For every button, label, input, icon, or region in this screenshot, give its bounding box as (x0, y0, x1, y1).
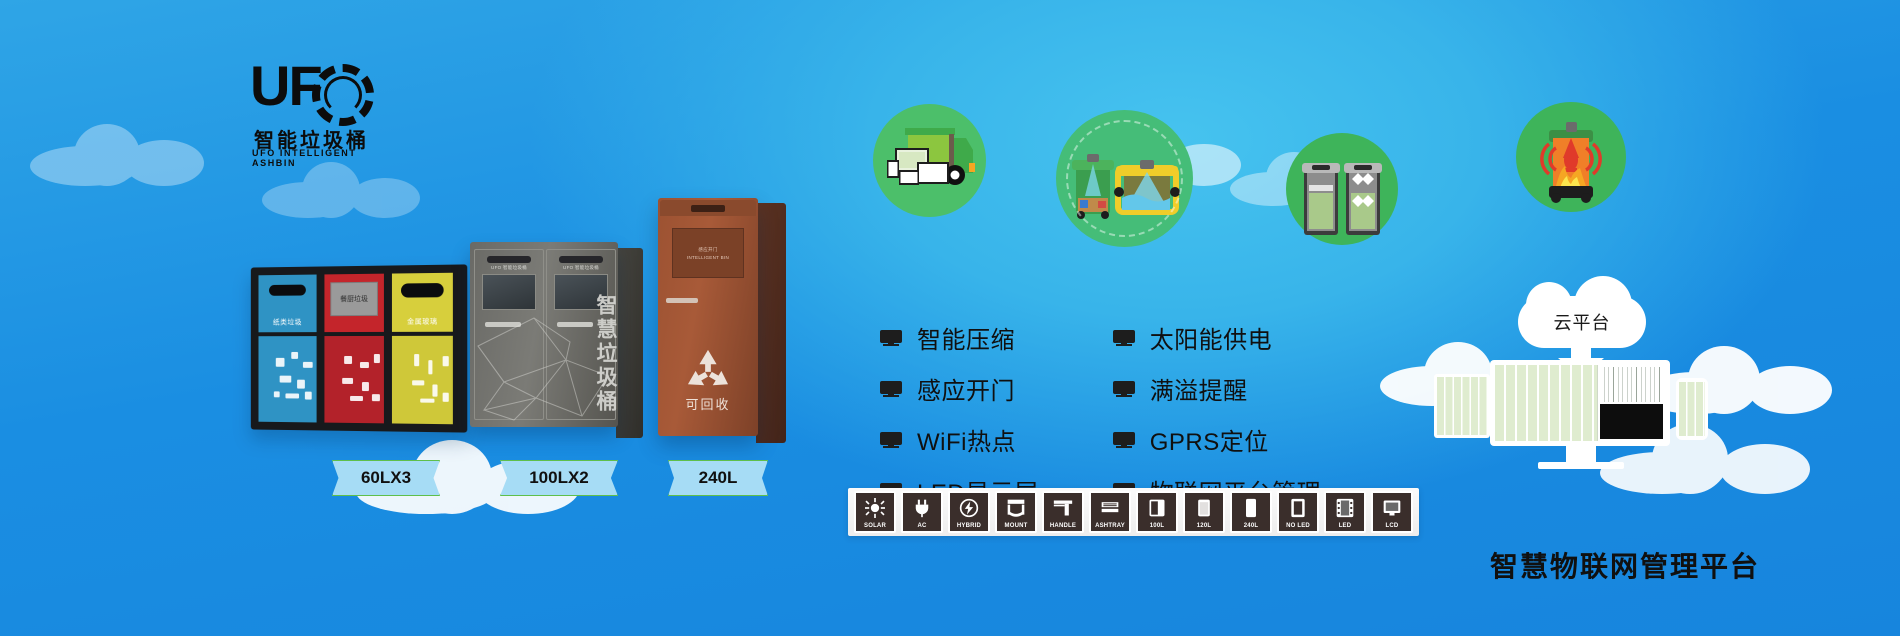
duo-bin-brand-text: UFO 智能垃圾桶 (475, 265, 543, 271)
feature-label: 太阳能供电 (1150, 320, 1273, 355)
bin-100l-icon (1138, 496, 1176, 519)
duo-bin-top-vent (559, 256, 603, 263)
lightning-icon (950, 496, 988, 519)
feature-item: 智能压缩 (880, 320, 1039, 355)
feature-label: WiFi热点 (917, 422, 1016, 457)
badge-label: LED (1339, 523, 1352, 529)
triple-bin-frame: 纸类垃圾 餐厨垃圾 (251, 264, 467, 432)
screen-line-2: INTELLIGENT BIN (687, 255, 729, 260)
monitor-icon (880, 330, 902, 346)
duo-bin-brand-text: UFO 智能垃圾桶 (547, 265, 615, 271)
feature-label: GPRS定位 (1150, 422, 1269, 457)
badge-no-led[interactable]: NO LED (1277, 491, 1319, 533)
bin-brown-240l: 感应开门 INTELLIGENT BIN 可回收 (658, 198, 788, 446)
waste-illustration (336, 348, 372, 411)
dashed-orbit (1066, 120, 1183, 237)
feature-label: 满溢提醒 (1150, 371, 1248, 406)
no-led-icon (1279, 496, 1317, 519)
cloud-platform-bubble: 云平台 (1518, 296, 1646, 348)
bin-display: 餐厨垃圾 (330, 282, 378, 316)
badge-label: HYBRID (957, 523, 981, 529)
cell-bottom-panel (392, 336, 453, 424)
truck-devices-circle (873, 104, 986, 217)
ribbon-240l: 240L (668, 460, 768, 496)
fire-alarm-icon (1516, 102, 1626, 212)
phone-screen (1679, 382, 1705, 436)
feature-item: WiFi热点 (880, 422, 1039, 457)
badge-solar[interactable]: SOLAR (854, 491, 896, 533)
map-view (1495, 365, 1597, 441)
feature-item: GPRS定位 (1113, 422, 1322, 457)
badge-120l[interactable]: 120L (1183, 491, 1225, 533)
lcd-icon (1373, 496, 1411, 519)
led-icon (1326, 496, 1364, 519)
feature-column-right: 太阳能供电 满溢提醒 GPRS定位 物联网平台管理 (1113, 320, 1322, 508)
tablet-device (1434, 374, 1490, 438)
bin-120l-icon (1185, 496, 1223, 519)
brand-logo: UF 智能垃圾桶 UFO INTELLIGENT ASHBIN (250, 58, 380, 163)
ribbon-label: 100LX2 (529, 468, 589, 488)
iot-platform-illustration: 云平台 (1440, 296, 1740, 526)
triple-bin-cell: 餐厨垃圾 (324, 274, 383, 424)
cell-top-panel: 金属玻璃 (392, 273, 453, 332)
recycle-icon (685, 348, 731, 390)
phone-device (1676, 378, 1708, 440)
feature-item: 满溢提醒 (1113, 371, 1322, 406)
badge-handle[interactable]: HANDLE (1042, 491, 1084, 533)
badge-label: ASHTRAY (1095, 523, 1125, 529)
analytics-panel (1597, 365, 1665, 441)
line-chart-widget (1600, 367, 1663, 402)
monitor-base (1538, 462, 1624, 469)
ribbon-label: 60LX3 (361, 468, 411, 488)
fire-alarm-circle (1516, 102, 1626, 212)
ribbon-label: 240L (699, 468, 738, 488)
badge-ac[interactable]: AC (901, 491, 943, 533)
bin-compaction-icon (1286, 133, 1398, 245)
product-banner: UF 智能垃圾桶 UFO INTELLIGENT ASHBIN 纸类垃圾 (0, 0, 1900, 636)
brown-bin-cap (660, 200, 756, 216)
feature-label: 感应开门 (917, 371, 1015, 406)
brown-bin-body: 感应开门 INTELLIGENT BIN 可回收 (658, 198, 758, 436)
duo-bin-body: UFO 智能垃圾桶 UFO 智能垃圾桶 智慧垃圾桶 (470, 242, 618, 427)
badge-label: AC (917, 523, 926, 529)
logo-english-name: UFO INTELLIGENT ASHBIN (252, 148, 380, 168)
feature-item: 太阳能供电 (1113, 320, 1322, 355)
feature-list: 智能压缩 感应开门 WiFi热点 LED显示屏 太阳能供电 满溢提醒 (880, 320, 1321, 508)
bin-triple-60lx3: 纸类垃圾 餐厨垃圾 (248, 266, 466, 431)
screen-line-1: 感应开门 (698, 247, 717, 253)
logo-wordmark: UF (250, 58, 321, 114)
duo-bin-side (616, 248, 643, 438)
bin-category-label: 纸类垃圾 (258, 317, 316, 327)
badge-label: NO LED (1286, 523, 1310, 529)
monitor-icon (1113, 381, 1135, 397)
badge-led[interactable]: LED (1324, 491, 1366, 533)
bin-opening (401, 283, 444, 298)
monitor-icon (1113, 432, 1135, 448)
cloud-decoration-2 (258, 160, 428, 220)
cell-top-panel: 餐厨垃圾 (324, 274, 383, 332)
badge-240l[interactable]: 240L (1230, 491, 1272, 533)
duo-bin-screen (482, 274, 536, 310)
feature-column-left: 智能压缩 感应开门 WiFi热点 LED显示屏 (880, 320, 1039, 508)
badge-hybrid[interactable]: HYBRID (948, 491, 990, 533)
compaction-circle (1286, 133, 1398, 245)
badge-label: HANDLE (1050, 523, 1076, 529)
triple-bin-cell: 金属玻璃 (392, 273, 453, 425)
badge-label: LCD (1386, 523, 1399, 529)
badge-ashtray[interactable]: ASHTRAY (1089, 491, 1131, 533)
waste-illustration (404, 348, 441, 412)
mount-icon (997, 496, 1035, 519)
area-chart-widget (1600, 404, 1663, 439)
garbage-truck-icon (873, 104, 986, 217)
cell-top-panel: 纸类垃圾 (258, 275, 316, 333)
tablet-screen (1437, 377, 1487, 435)
badge-label: 120L (1197, 523, 1211, 529)
badge-label: 240L (1244, 523, 1258, 529)
brown-bin-handle[interactable] (666, 298, 698, 303)
monitor-icon (880, 432, 902, 448)
ashtray-icon (1091, 496, 1129, 519)
monitor-icon (880, 381, 902, 397)
feature-label: 智能压缩 (917, 320, 1015, 355)
bin-duo-100lx2: UFO 智能垃圾桶 UFO 智能垃圾桶 智慧垃圾桶 (470, 242, 645, 442)
handle-icon (1044, 496, 1082, 519)
badge-label: 100L (1150, 523, 1164, 529)
brown-bin-vent (691, 205, 725, 212)
ribbon-60lx3: 60LX3 (332, 460, 440, 496)
monitor-icon (1113, 330, 1135, 346)
fill-sensor-circle (1056, 110, 1193, 247)
option-badge-strip: SOLAR AC HYBRID MOUNT (848, 488, 1419, 536)
cloud-decoration-1 (20, 120, 220, 190)
plug-icon (903, 496, 941, 519)
ribbon-100lx2: 100LX2 (500, 460, 618, 496)
platform-caption: 智慧物联网管理平台 (1490, 545, 1760, 585)
badge-lcd[interactable]: LCD (1371, 491, 1413, 533)
feature-item: 感应开门 (880, 371, 1039, 406)
logo-inner-ring-icon (324, 76, 362, 114)
badge-label: SOLAR (864, 523, 886, 529)
cloud-platform-label: 云平台 (1554, 309, 1611, 335)
duo-bin-vertical-text: 智慧垃圾桶 (594, 294, 620, 414)
brown-bin-side (756, 203, 786, 443)
triple-bin-cell: 纸类垃圾 (258, 275, 316, 423)
brown-bin-screen: 感应开门 INTELLIGENT BIN (672, 228, 744, 278)
bin-240l-icon (1232, 496, 1270, 519)
cell-bottom-panel (258, 336, 316, 422)
monitor-device (1490, 360, 1670, 446)
badge-mount[interactable]: MOUNT (995, 491, 1037, 533)
monitor-screen (1495, 365, 1665, 441)
badge-label: MOUNT (1005, 523, 1028, 529)
waste-illustration (270, 348, 305, 410)
bin-opening (269, 285, 306, 296)
badge-100l[interactable]: 100L (1136, 491, 1178, 533)
sun-icon (856, 496, 894, 519)
cell-bottom-panel (324, 336, 383, 423)
brown-bin-label: 可回收 (658, 394, 758, 413)
bin-category-label: 金属玻璃 (392, 316, 453, 326)
duo-bin-top-vent (487, 256, 531, 263)
